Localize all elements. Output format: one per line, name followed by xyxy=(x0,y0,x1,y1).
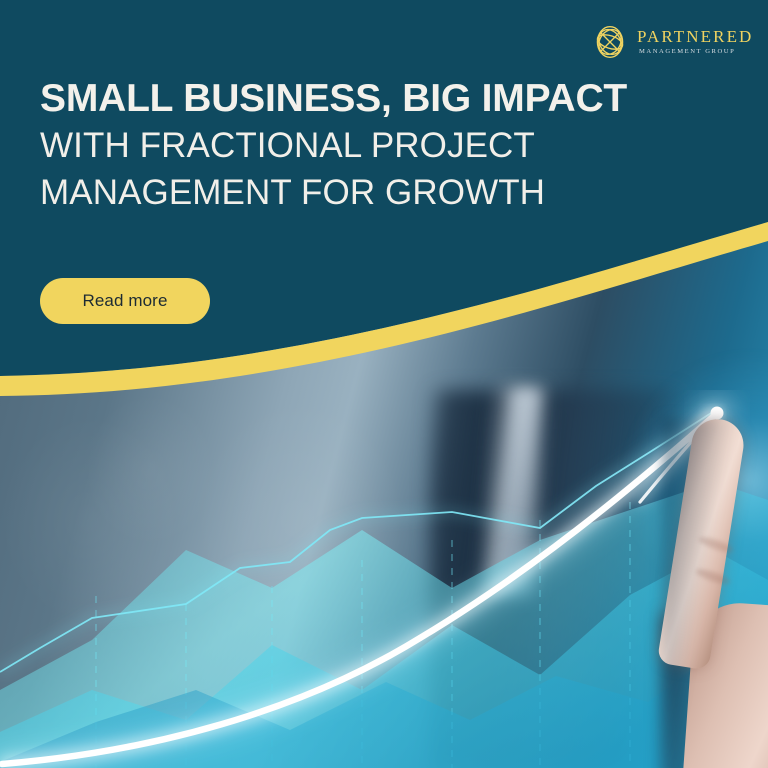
hand-shading xyxy=(662,418,768,768)
globe-knot-icon xyxy=(592,22,628,62)
headline-secondary-line1: WITH FRACTIONAL PROJECT xyxy=(40,123,680,169)
growth-chart-graphic xyxy=(0,390,768,768)
brand-wordmark: PARTNERED MANAGEMENT GROUP xyxy=(637,28,753,56)
headline-secondary-line2: MANAGEMENT FOR GROWTH xyxy=(40,170,680,216)
headline-primary: SMALL BUSINESS, BIG IMPACT xyxy=(40,78,680,119)
brand-logo[interactable]: PARTNERED MANAGEMENT GROUP xyxy=(592,22,753,62)
social-banner: PARTNERED MANAGEMENT GROUP SMALL BUSINES… xyxy=(0,0,768,768)
pointing-finger-icon xyxy=(662,418,768,768)
headline-block: SMALL BUSINESS, BIG IMPACT WITH FRACTION… xyxy=(40,78,680,216)
headline-secondary: WITH FRACTIONAL PROJECT MANAGEMENT FOR G… xyxy=(40,123,680,215)
brand-name: PARTNERED xyxy=(637,28,753,45)
brand-tagline: MANAGEMENT GROUP xyxy=(637,49,753,56)
read-more-button[interactable]: Read more xyxy=(40,278,210,324)
